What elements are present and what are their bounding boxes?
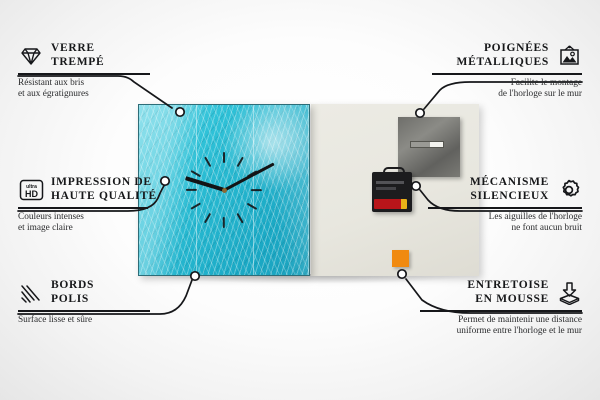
feature-verre-trempe: VERRETREMPÉ Résistant aux briset aux égr…: [18, 42, 168, 100]
connector-dot-bords-polis: [191, 272, 199, 280]
feature-mecanisme-silencieux: MÉCANISMESILENCIEUX Les aiguilles de l'h…: [428, 176, 582, 234]
feature-entretoise-en-mousse: ENTRETOISEEN MOUSSE Permet de maintenir …: [420, 279, 582, 337]
foam-spacer-icon: [556, 281, 582, 305]
connector-dot-entretoise: [398, 270, 406, 278]
diamond-icon: [18, 44, 44, 68]
feature-rule: [420, 310, 582, 312]
infographic-stage: VERRETREMPÉ Résistant aux briset aux égr…: [0, 0, 600, 400]
feature-rule: [428, 207, 582, 209]
gear-icon: [556, 178, 582, 202]
feature-title: ENTRETOISEEN MOUSSE: [467, 279, 549, 306]
feature-impression-haute-qualite: ultra HD IMPRESSION DEHAUTE QUALITÉ Coul…: [18, 176, 178, 234]
feature-title: VERRETREMPÉ: [51, 42, 104, 69]
connector-dot-poignees: [416, 109, 424, 117]
feature-subtitle: Couleurs intenseset image claire: [18, 212, 178, 234]
feature-subtitle: Permet de maintenir une distanceuniforme…: [420, 315, 582, 337]
feature-subtitle: Résistant aux briset aux égratignures: [18, 78, 168, 100]
feature-title: MÉCANISMESILENCIEUX: [470, 176, 549, 203]
svg-text:HD: HD: [25, 189, 38, 199]
feature-rule: [18, 207, 148, 209]
feature-poignees-metalliques: POIGNÉESMÉTALLIQUES Facilite le montaged…: [432, 42, 582, 100]
picture-frame-icon: [556, 44, 582, 68]
feature-rule: [18, 73, 150, 75]
connector-dot-verre-trempe: [176, 108, 184, 116]
polished-edges-icon: [18, 281, 44, 305]
feature-subtitle: Les aiguilles de l'horlogene font aucun …: [428, 212, 582, 234]
connector-dot-mecanisme: [412, 182, 420, 190]
feature-title: POIGNÉESMÉTALLIQUES: [457, 42, 549, 69]
ultra-hd-icon: ultra HD: [18, 178, 44, 202]
feature-subtitle: Facilite le montagede l'horloge sur le m…: [432, 78, 582, 100]
feature-rule: [432, 73, 582, 75]
feature-rule: [18, 310, 150, 312]
feature-title: IMPRESSION DEHAUTE QUALITÉ: [51, 176, 157, 203]
feature-bords-polis: BORDSPOLIS Surface lisse et sûre: [18, 279, 168, 326]
feature-subtitle: Surface lisse et sûre: [18, 315, 168, 326]
feature-title: BORDSPOLIS: [51, 279, 94, 306]
